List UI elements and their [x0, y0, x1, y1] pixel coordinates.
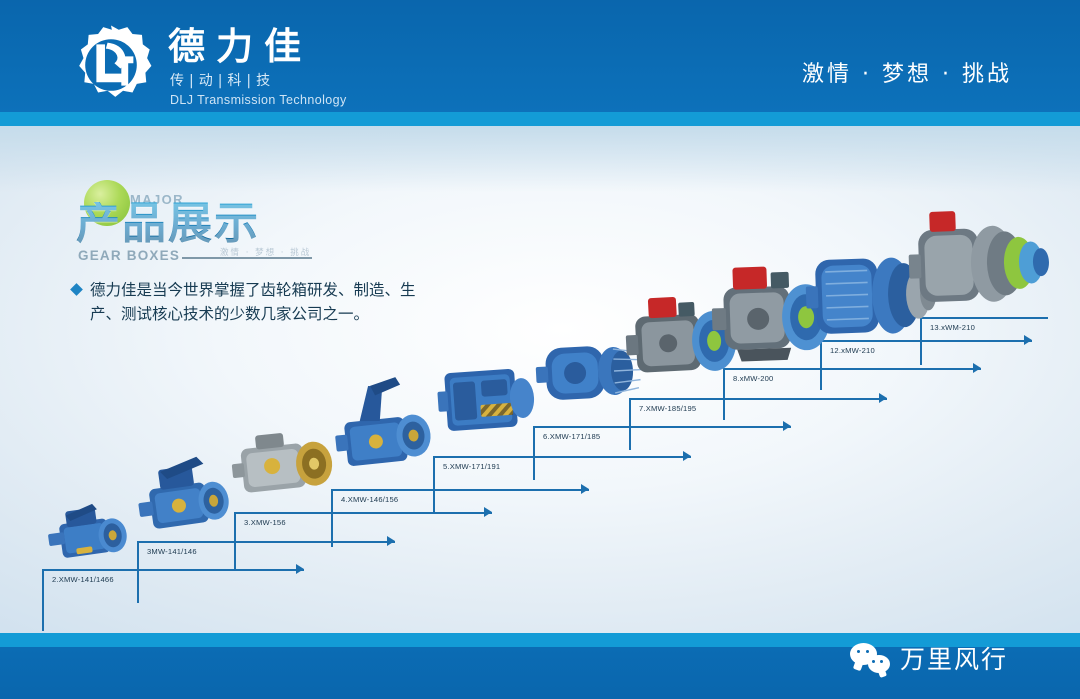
company-tagline-cn: 传|动|科|技	[170, 70, 347, 90]
company-name-cn: 德力佳	[168, 27, 347, 68]
wechat-account-name: 万里风行	[900, 640, 1008, 676]
brand-logo: 德力佳 传|动|科|技 DLJ Transmission Technology	[68, 22, 347, 108]
section-title-block: MAJOR 产品展示 GEAR BOXES 激情 · 梦想 · 挑战	[72, 188, 402, 266]
intro-text: 德力佳是当今世界掌握了齿轮箱研发、制造、生产、测试核心技术的少数几家公司之一。	[90, 278, 432, 326]
title-mini-slogan: 激情 · 梦想 · 挑战	[220, 246, 311, 258]
header-slogan: 激情 · 梦想 · 挑战	[802, 56, 1012, 88]
wechat-icon	[850, 643, 890, 673]
gearbox-photo-10	[905, 184, 1070, 344]
product-label-1: 2.XMW-141/1466	[52, 575, 114, 584]
section-title-en: GEAR BOXES	[78, 248, 180, 263]
diamond-bullet-icon	[70, 283, 83, 296]
section-title-sub-row: GEAR BOXES 激情 · 梦想 · 挑战	[78, 248, 402, 266]
product-label-2: 3MW-141/146	[147, 547, 197, 556]
poster-page: 德力佳 传|动|科|技 DLJ Transmission Technology …	[0, 0, 1080, 699]
intro-paragraph: 德力佳是当今世界掌握了齿轮箱研发、制造、生产、测试核心技术的少数几家公司之一。	[72, 278, 432, 326]
company-name-en: DLJ Transmission Technology	[170, 93, 347, 107]
dlj-gear-logo-icon	[68, 22, 154, 108]
brand-text: 德力佳 传|动|科|技 DLJ Transmission Technology	[168, 23, 347, 108]
page-header: 德力佳 传|动|科|技 DLJ Transmission Technology …	[0, 0, 1080, 112]
content-stage: MAJOR 产品展示 GEAR BOXES 激情 · 梦想 · 挑战 德力佳是当…	[0, 126, 1080, 633]
step-connector-vertical	[42, 569, 44, 631]
product-label-3: 3.XMW-156	[244, 518, 286, 527]
wechat-account: 万里风行	[850, 640, 1008, 676]
section-title-cn: 产品展示	[76, 202, 402, 246]
header-accent-stripe	[0, 112, 1080, 126]
